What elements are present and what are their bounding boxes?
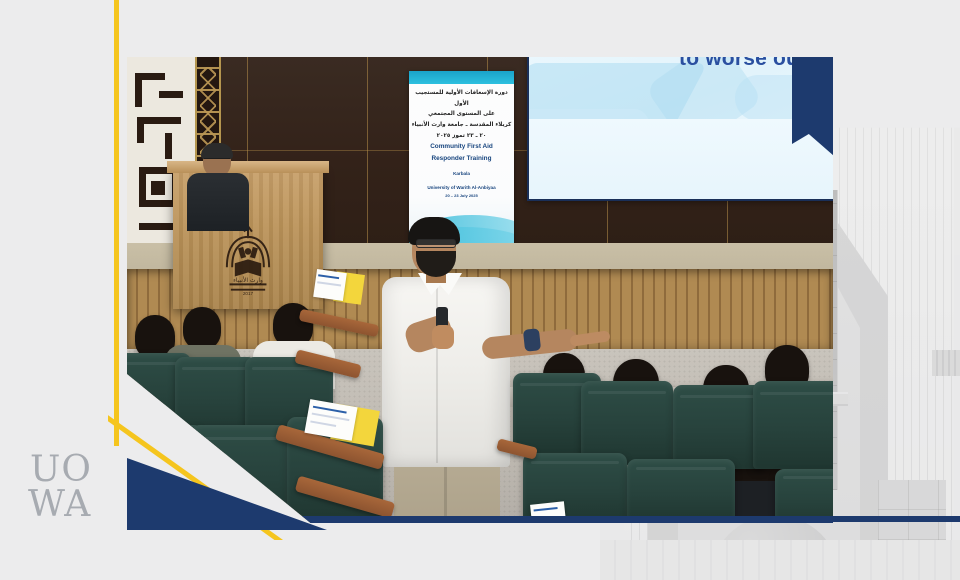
auditorium-seat bbox=[673, 385, 765, 469]
audience-head bbox=[183, 307, 221, 349]
seated-official-glasses-icon bbox=[204, 158, 230, 163]
uowa-logo: UO WA bbox=[30, 452, 92, 523]
seated-official-hair bbox=[201, 143, 233, 159]
presenter-left-hand bbox=[432, 325, 454, 349]
presenter-glasses-icon bbox=[416, 239, 456, 248]
auditorium-seat bbox=[753, 381, 833, 469]
projector-screen: to worse outc bbox=[527, 57, 833, 201]
auditorium-seat bbox=[775, 469, 833, 523]
poster-canvas: to worse outc دورة الإسعافات الأولية للم… bbox=[0, 0, 960, 580]
banner-arabic-line-1: دورة الإسعافات الأولية للمستجيب الأول bbox=[409, 88, 514, 109]
watermark-columns-right bbox=[932, 350, 960, 376]
watermark-ground bbox=[600, 540, 960, 580]
presenter-wristwatch-icon bbox=[523, 328, 541, 352]
uowa-logo-line-2: WA bbox=[28, 487, 92, 522]
banner-university: University of Warith Al-Anbiyaa bbox=[409, 184, 514, 192]
banner-arabic-line-4: ٢٠ ـ ٢٣ تموز ٢٠٢٥ bbox=[409, 131, 514, 142]
event-photograph: to worse outc دورة الإسعافات الأولية للم… bbox=[127, 57, 833, 523]
seated-official bbox=[187, 145, 249, 231]
paper-line bbox=[318, 281, 341, 286]
yellow-vertical-accent-line bbox=[114, 0, 119, 440]
uowa-logo-line-1: UO bbox=[30, 452, 92, 487]
presenter-figure bbox=[382, 207, 528, 523]
paper-line bbox=[312, 413, 350, 421]
paper-line bbox=[310, 420, 336, 426]
paper-line bbox=[313, 406, 347, 413]
banner-title-line-1: Community First Aid bbox=[409, 141, 514, 153]
presenter-shirt bbox=[382, 277, 510, 467]
emblem-arabic-text: وارث الأنبياء bbox=[233, 276, 263, 284]
banner-title-line-2: Responder Training bbox=[409, 153, 514, 165]
banner-arabic-line-2: على المستوى المجتمعي bbox=[409, 109, 514, 120]
emblem-year: 2017 bbox=[243, 291, 254, 296]
banner-arabic-text: دورة الإسعافات الأولية للمستجيب الأول عل… bbox=[409, 88, 514, 141]
banner-city: Karbala bbox=[409, 170, 514, 178]
handout-paper bbox=[313, 269, 347, 301]
paper-line bbox=[319, 274, 340, 278]
university-emblem-icon: وارث الأنبياء 2017 bbox=[215, 221, 281, 297]
banner-dates: 20 – 23 July 2025 bbox=[409, 192, 514, 199]
slide-body-area bbox=[529, 119, 833, 199]
seated-official-body bbox=[187, 173, 249, 231]
banner-arabic-line-3: كربلاء المقدسة ـ جامعة وارث الأنبياء bbox=[409, 120, 514, 131]
auditorium-seat bbox=[627, 459, 735, 523]
banner-english-text: Community First Aid Responder Training K… bbox=[409, 141, 514, 200]
paper-line bbox=[533, 507, 557, 511]
photo-scene: to worse outc دورة الإسعافات الأولية للم… bbox=[127, 57, 833, 523]
